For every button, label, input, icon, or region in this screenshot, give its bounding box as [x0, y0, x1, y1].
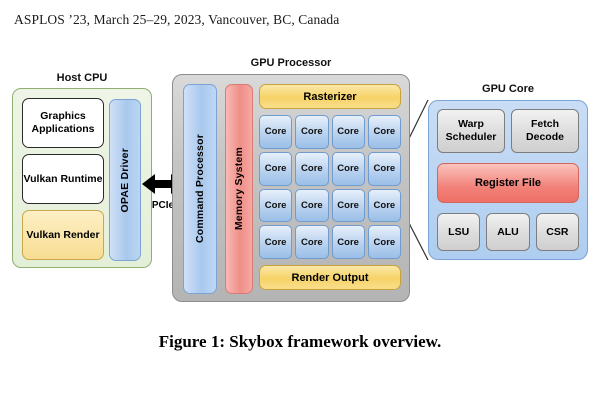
core-block[interactable]: Core	[368, 189, 401, 223]
opae-driver-label: OPAE Driver	[119, 148, 131, 212]
core-block[interactable]: Core	[259, 225, 292, 259]
block-warp-scheduler[interactable]: Warp Scheduler	[437, 109, 505, 153]
block-fetch-decode[interactable]: Fetch Decode	[511, 109, 579, 153]
block-rasterizer[interactable]: Rasterizer	[259, 84, 401, 109]
block-alu[interactable]: ALU	[486, 213, 529, 251]
block-opae-driver[interactable]: OPAE Driver	[109, 99, 141, 261]
core-block[interactable]: Core	[332, 189, 365, 223]
core-block[interactable]: Core	[259, 115, 292, 149]
figure-canvas: Host CPU Graphics Applications Vulkan Ru…	[0, 52, 600, 322]
core-block[interactable]: Core	[332, 225, 365, 259]
block-memory-system[interactable]: Memory System	[225, 84, 253, 294]
host-cpu-label: Host CPU	[12, 72, 152, 84]
core-block[interactable]: Core	[368, 225, 401, 259]
gpu-processor-container: Command Processor Memory System Rasteriz…	[172, 74, 410, 302]
core-block[interactable]: Core	[332, 115, 365, 149]
block-csr[interactable]: CSR	[536, 213, 579, 251]
command-processor-label: Command Processor	[194, 134, 206, 243]
core-block[interactable]: Core	[332, 152, 365, 186]
block-vulkan-runtime[interactable]: Vulkan Runtime	[22, 154, 104, 204]
gpu-core-front-end-row: Warp Scheduler Fetch Decode	[437, 109, 579, 153]
host-software-stack: Graphics Applications Vulkan Runtime Vul…	[22, 98, 104, 260]
core-block[interactable]: Core	[368, 152, 401, 186]
block-graphics-applications[interactable]: Graphics Applications	[22, 98, 104, 148]
block-register-file[interactable]: Register File	[437, 163, 579, 203]
block-command-processor[interactable]: Command Processor	[183, 84, 217, 294]
gpu-core-execution-row: LSU ALU CSR	[437, 213, 579, 251]
core-block[interactable]: Core	[295, 115, 328, 149]
core-block[interactable]: Core	[259, 152, 292, 186]
core-block[interactable]: Core	[259, 189, 292, 223]
host-cpu-container: Graphics Applications Vulkan Runtime Vul…	[12, 88, 152, 268]
core-block[interactable]: Core	[295, 225, 328, 259]
core-block[interactable]: Core	[295, 152, 328, 186]
gpu-core-container: Warp Scheduler Fetch Decode Register Fil…	[428, 100, 588, 260]
core-block[interactable]: Core	[368, 115, 401, 149]
page-header: ASPLOS ’23, March 25–29, 2023, Vancouver…	[14, 12, 339, 28]
figure-caption: Figure 1: Skybox framework overview.	[0, 332, 600, 352]
core-block[interactable]: Core	[295, 189, 328, 223]
gpu-core-label: GPU Core	[428, 83, 588, 95]
block-render-output[interactable]: Render Output	[259, 265, 401, 290]
gpu-processor-label: GPU Processor	[172, 57, 410, 69]
core-grid: Core Core Core Core Core Core Core Core …	[259, 115, 401, 259]
memory-system-label: Memory System	[233, 147, 245, 230]
block-vulkan-render[interactable]: Vulkan Render	[22, 210, 104, 260]
block-lsu[interactable]: LSU	[437, 213, 480, 251]
